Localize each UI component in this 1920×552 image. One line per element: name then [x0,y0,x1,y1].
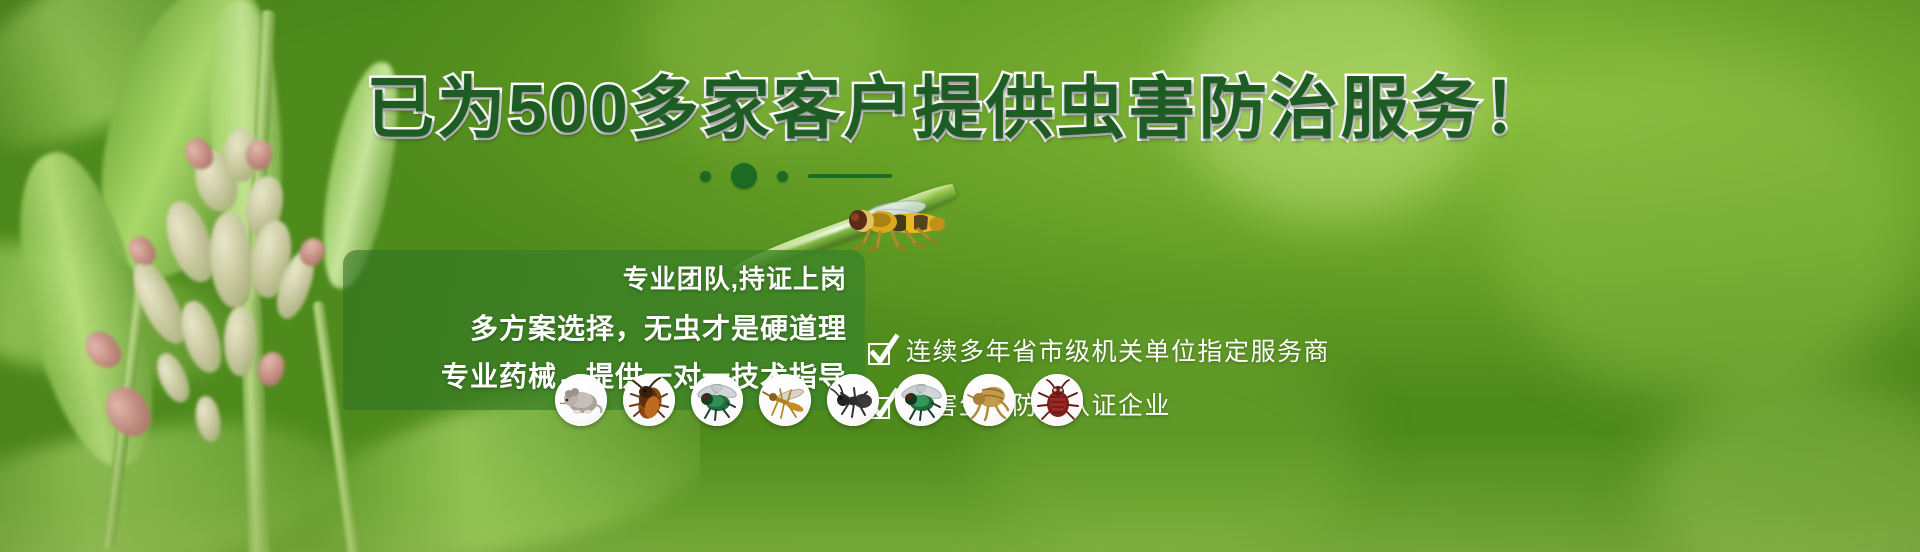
page-title: 已为500多家客户提供虫害防治服务！ [0,72,1920,146]
credential-label: 连续多年省市级机关单位指定服务商 [906,338,1330,366]
flea-icon[interactable] [963,374,1015,426]
decorative-dots [700,163,892,189]
hoverfly-image [840,196,960,256]
deco-dot-small-left [700,171,711,182]
deco-rule [808,174,892,178]
page-title-text: 已为500多家客户提供虫害防治服务！ [366,71,1553,147]
mosquito-icon[interactable] [759,374,811,426]
fly-icon[interactable] [691,374,743,426]
mouse-icon[interactable] [555,374,607,426]
checkbox-checked-icon [868,340,893,365]
cockroach-icon[interactable] [623,374,675,426]
promo-banner: 已为500多家客户提供虫害防治服务！ 专业团队,持证上岗 多方案选择，无虫才是硬… [0,0,1920,552]
background-bokeh [1650,380,1920,552]
claim-line-2: 多方案选择，无虫才是硬道理 [441,312,847,346]
deco-dot-small-right [777,171,788,182]
pest-icon-strip [555,374,1083,426]
bedbug-icon[interactable] [1031,374,1083,426]
deco-dot-large [731,163,757,189]
ant-icon[interactable] [827,374,879,426]
claim-line-1: 专业团队,持证上岗 [441,264,847,294]
blowfly-icon[interactable] [895,374,947,426]
credential-item: 连续多年省市级机关单位指定服务商 [868,338,1330,366]
